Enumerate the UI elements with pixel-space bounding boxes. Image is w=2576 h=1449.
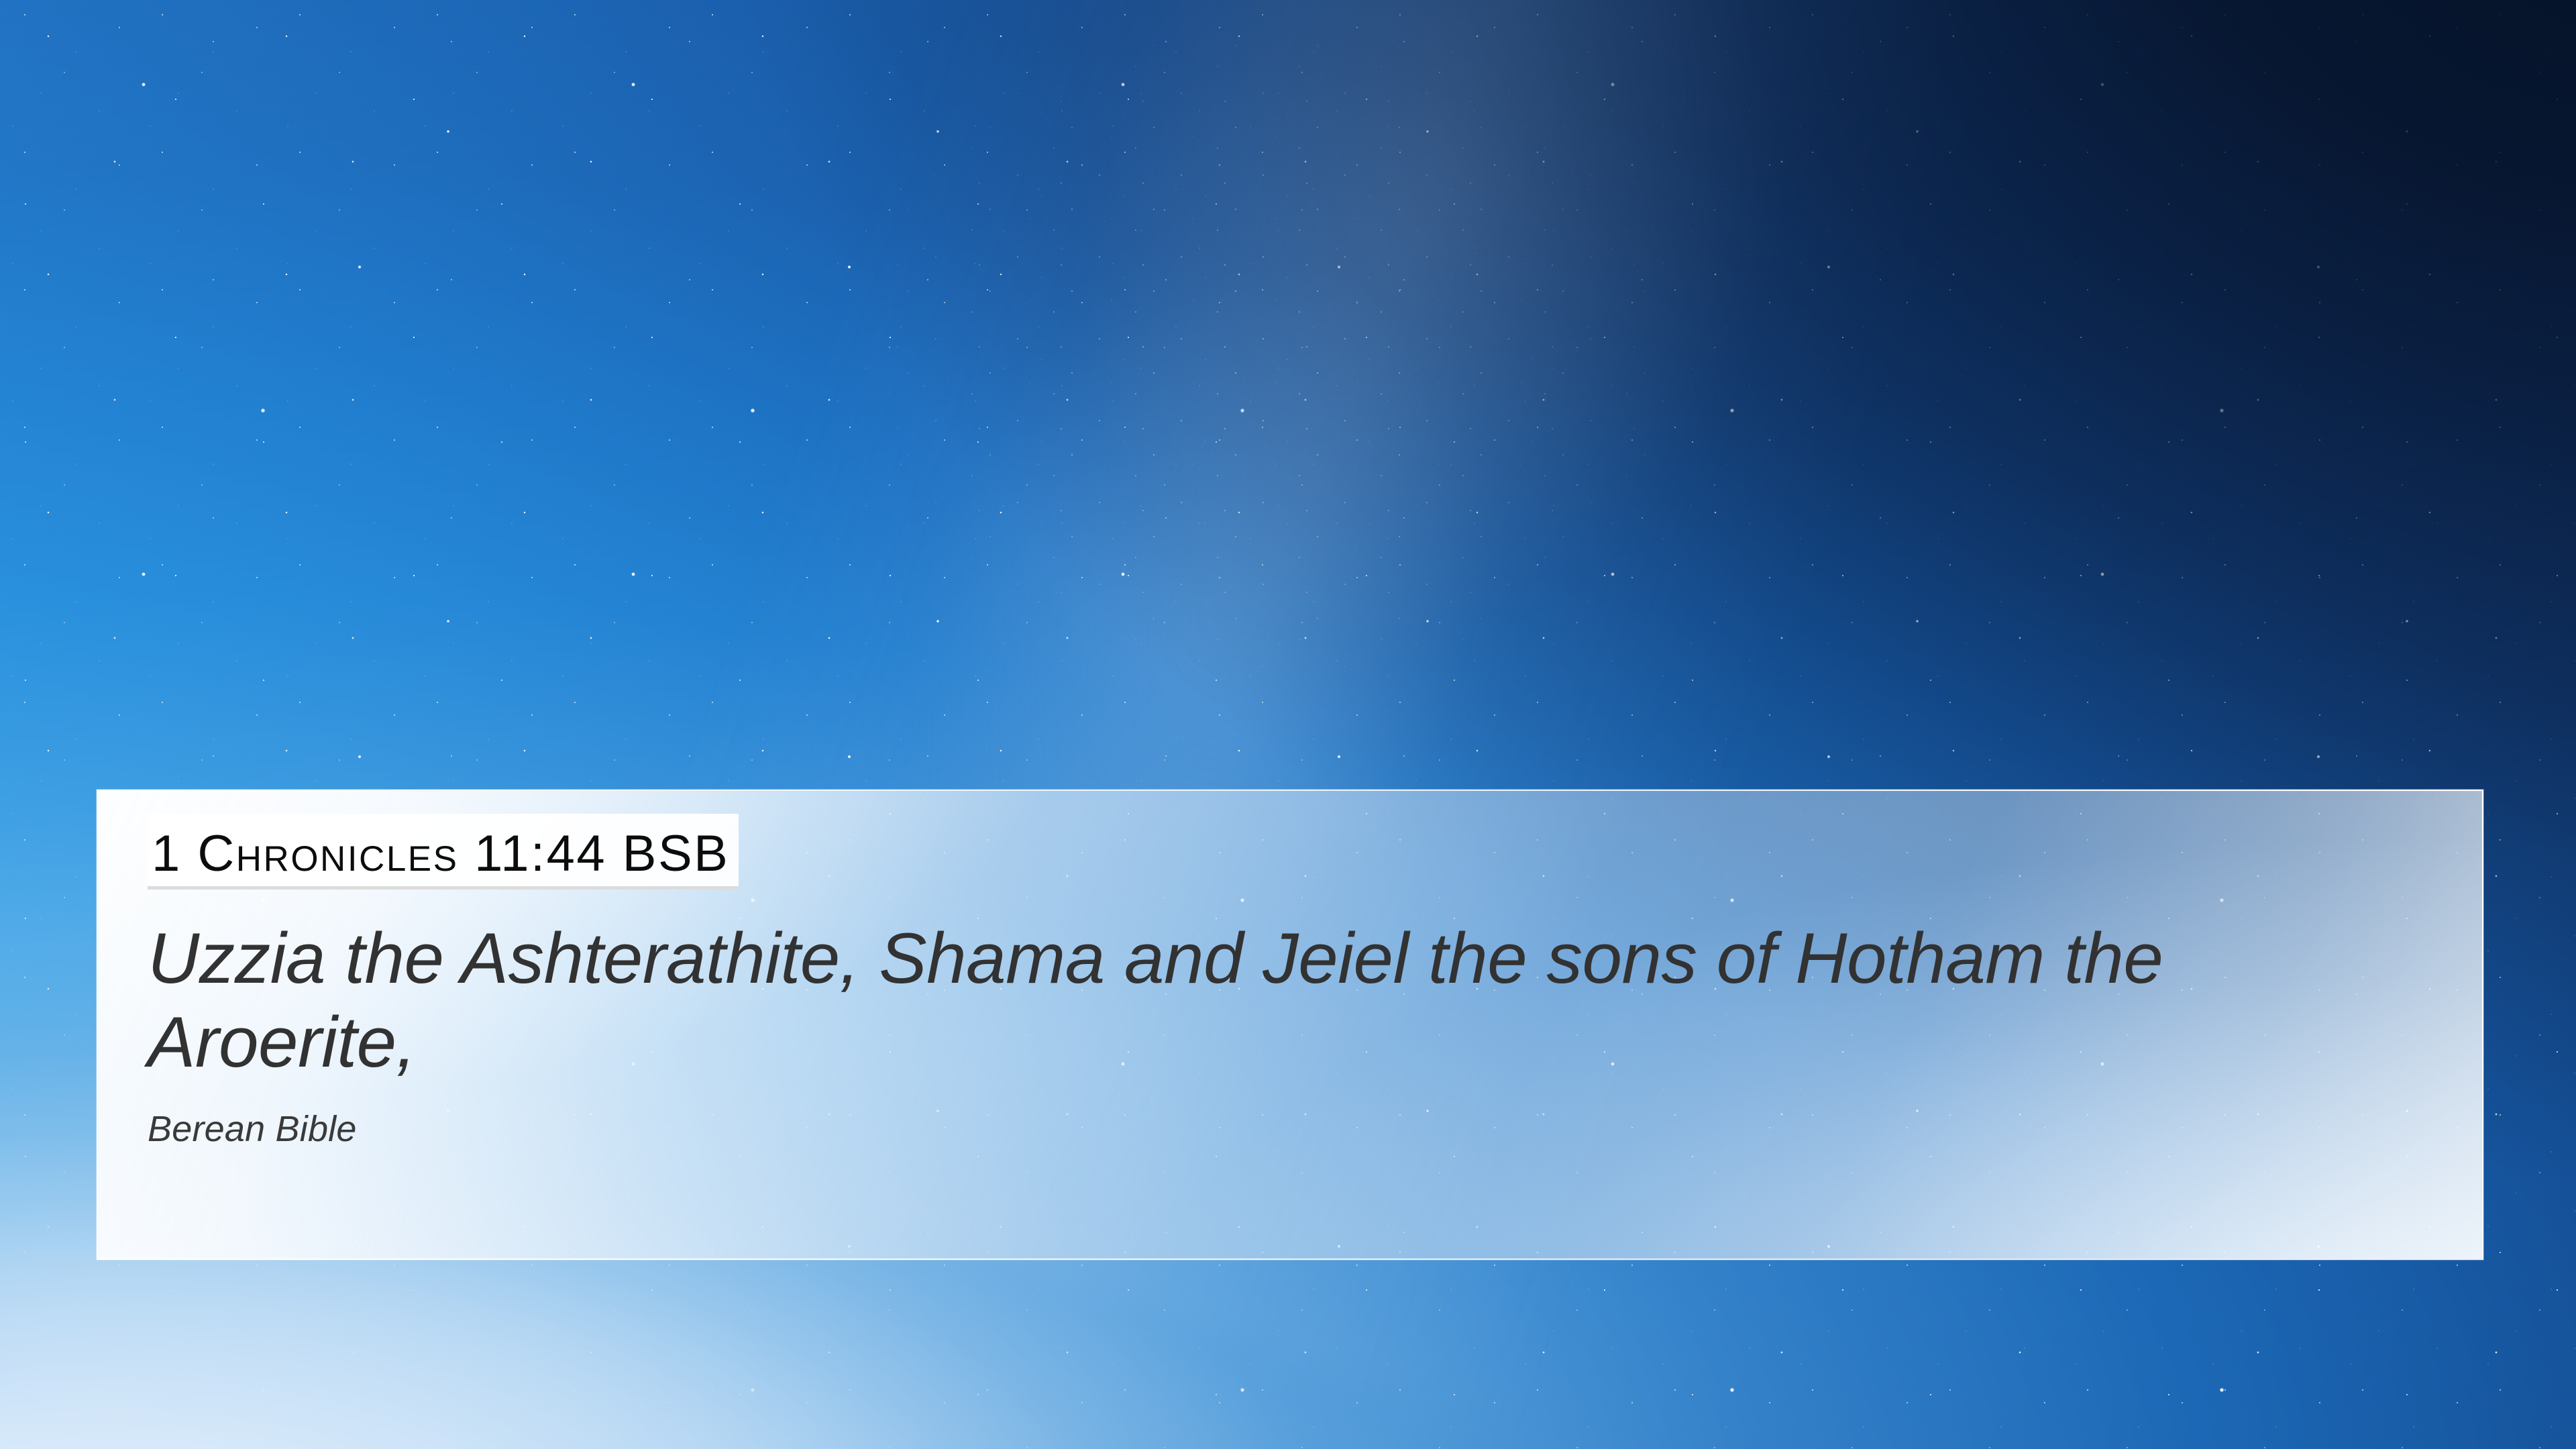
verse-image-canvas: 1 Chronicles 11:44 BSB Uzzia the Ashtera…: [0, 0, 2576, 1449]
verse-reference-highlight: 1 Chronicles 11:44 BSB: [148, 814, 739, 890]
translation-attribution: Berean Bible: [148, 1110, 2455, 1149]
verse-body-text: Uzzia the Ashterathite, Shama and Jeiel …: [148, 916, 2328, 1084]
verse-card-content: 1 Chronicles 11:44 BSB Uzzia the Ashtera…: [148, 814, 2455, 1245]
verse-reference: 1 Chronicles 11:44 BSB: [152, 828, 729, 879]
verse-card: 1 Chronicles 11:44 BSB Uzzia the Ashtera…: [97, 790, 2483, 1260]
